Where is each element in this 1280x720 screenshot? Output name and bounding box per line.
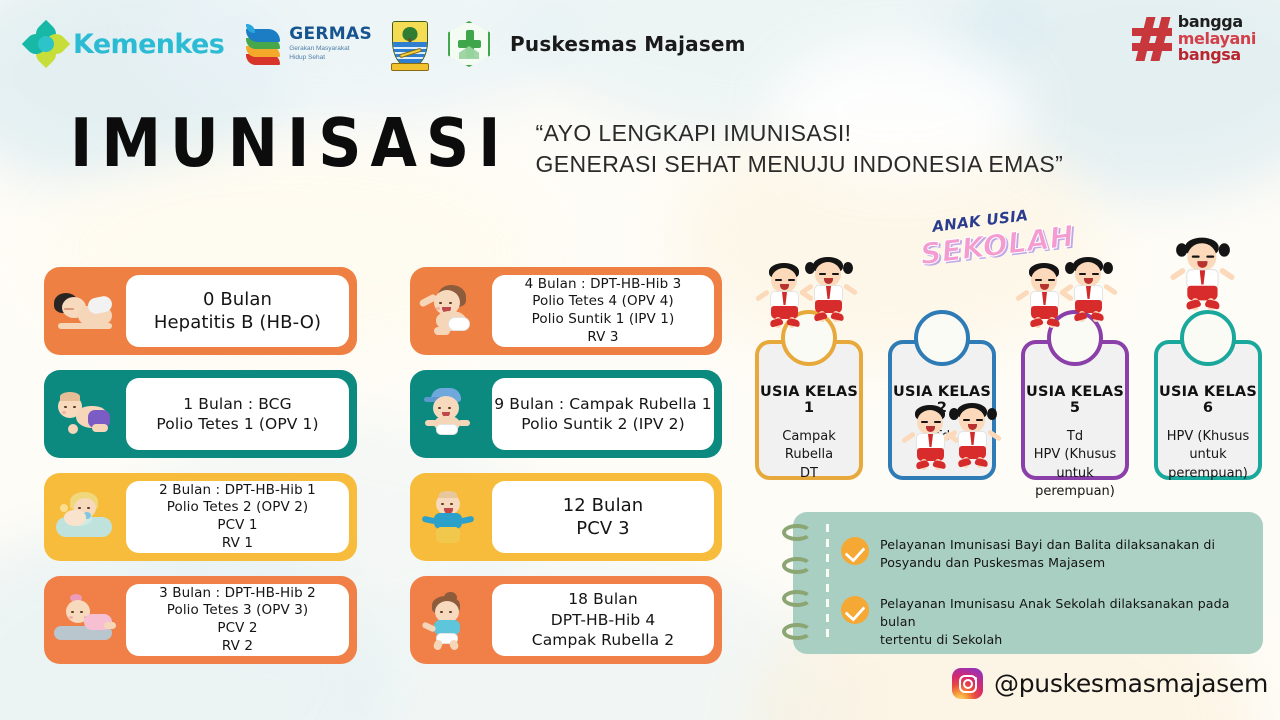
card-illustration <box>44 473 126 561</box>
usia-kelas-6: USIA KELAS 6HPV (Khusus untuk perempuan) <box>1154 340 1262 480</box>
puskesmas-name: Puskesmas Majasem <box>510 32 746 56</box>
baby-with-cap-icon <box>418 386 484 442</box>
waving-baby-icon <box>418 283 484 339</box>
kemenkes-label: Kemenkes <box>73 29 224 60</box>
baby-pink-icon <box>52 592 118 648</box>
note-text: Pelayanan Imunisasu Anak Sekolah dilaksa… <box>880 595 1263 649</box>
school-card-body: Campak Rubella DT <box>777 428 840 493</box>
card-text: 1 Bulan : BCG Polio Tetes 1 (OPV 1) <box>156 394 318 435</box>
card-body: 12 Bulan PCV 3 <box>492 481 714 553</box>
card-0-bulan: 0 Bulan Hepatitis B (HB-O) <box>44 267 357 355</box>
card-body: 0 Bulan Hepatitis B (HB-O) <box>126 275 349 347</box>
school-card-title: USIA KELAS 5 <box>1025 384 1125 416</box>
note-text: Pelayanan Imunisasi Bayi dan Balita dila… <box>880 536 1215 572</box>
card-body: 18 Bulan DPT-HB-Hib 4 Campak Rubella 2 <box>492 584 714 656</box>
kemenkes-logo: Kemenkes <box>26 24 224 64</box>
card-notch <box>781 310 837 366</box>
page-title: IMUNISASI <box>70 110 509 177</box>
card-1-bulan: 1 Bulan : BCG Polio Tetes 1 (OPV 1) <box>44 370 357 458</box>
card-2-bulan: 2 Bulan : DPT-HB-Hib 1 Polio Tetes 2 (OP… <box>44 473 357 561</box>
bandung-city-crest-icon <box>392 21 428 67</box>
note-item: Pelayanan Imunisasi Bayi dan Balita dila… <box>841 536 1215 572</box>
card-text: 2 Bulan : DPT-HB-Hib 1 Polio Tetes 2 (OP… <box>159 482 316 552</box>
baby-on-cloud-icon <box>52 489 118 545</box>
school-card-body: Td <box>929 428 955 456</box>
card-illustration <box>410 267 492 355</box>
card-text: 0 Bulan Hepatitis B (HB-O) <box>154 288 321 335</box>
card-18-bulan: 18 Bulan DPT-HB-Hib 4 Campak Rubella 2 <box>410 576 722 664</box>
instagram-icon <box>952 668 983 699</box>
germas-title: GERMAS <box>289 26 372 43</box>
crawling-baby-icon <box>52 386 118 442</box>
perforation-line <box>826 524 829 642</box>
standing-baby-icon <box>418 489 484 545</box>
header-logo-bar: Kemenkes GERMAS Gerakan Masyarakat Hidup… <box>0 0 1280 88</box>
sleeping-baby-icon <box>52 283 118 339</box>
card-12-bulan: 12 Bulan PCV 3 <box>410 473 722 561</box>
card-illustration <box>44 267 126 355</box>
card-9-bulan: 9 Bulan : Campak Rubella 1 Polio Suntik … <box>410 370 722 458</box>
instagram-footer[interactable]: @puskesmasmajasem <box>952 668 1268 699</box>
germas-figure-icon <box>244 23 284 65</box>
card-body: 9 Bulan : Campak Rubella 1 Polio Suntik … <box>492 378 714 450</box>
schoolgirl-icon <box>806 252 852 318</box>
card-4-bulan: 4 Bulan : DPT-HB-Hib 3 Polio Tetes 4 (OP… <box>410 267 722 355</box>
school-age-heading: ANAK USIA SEKOLAH <box>920 212 1090 274</box>
tagline: “AYO LENGKAPI IMUNISASI! GENERASI SEHAT … <box>535 118 1063 180</box>
card-text: 12 Bulan PCV 3 <box>563 494 644 541</box>
school-card-title: USIA KELAS 2 <box>892 384 992 416</box>
card-notch <box>1047 310 1103 366</box>
school-card-title: USIA KELAS 1 <box>759 384 859 416</box>
usia-kelas-2: USIA KELAS 2Td <box>888 340 996 480</box>
card-body: 3 Bulan : DPT-HB-Hib 2 Polio Tetes 3 (OP… <box>126 584 349 656</box>
toddler-running-icon <box>418 592 484 648</box>
note-item: Pelayanan Imunisasu Anak Sekolah dilaksa… <box>841 595 1263 649</box>
card-illustration <box>410 370 492 458</box>
check-circle-icon <box>841 596 869 624</box>
bangga-melayani-bangsa-logo: bangga melayani bangsa <box>1132 14 1256 64</box>
hashtag-icon <box>1132 17 1172 61</box>
card-text: 9 Bulan : Campak Rubella 1 Polio Suntik … <box>494 394 711 435</box>
card-notch <box>914 310 970 366</box>
puskesmas-cross-logo-icon <box>448 21 490 67</box>
card-text: 4 Bulan : DPT-HB-Hib 3 Polio Tetes 4 (OP… <box>525 276 682 346</box>
card-illustration <box>410 473 492 561</box>
school-card-title: USIA KELAS 6 <box>1158 384 1258 416</box>
school-card-body: Td HPV (Khusus untuk perempuan) <box>1029 428 1122 512</box>
usia-kelas-1: USIA KELAS 1Campak Rubella DT <box>755 340 863 480</box>
bangga-line3: bangsa <box>1178 47 1256 64</box>
check-circle-icon <box>841 537 869 565</box>
kemenkes-flower-icon <box>26 24 66 64</box>
card-illustration <box>44 576 126 664</box>
title-block: IMUNISASI “AYO LENGKAPI IMUNISASI! GENER… <box>70 110 1063 180</box>
card-text: 3 Bulan : DPT-HB-Hib 2 Polio Tetes 3 (OP… <box>159 585 316 655</box>
card-illustration <box>410 576 492 664</box>
notes-panel: Pelayanan Imunisasi Bayi dan Balita dila… <box>793 512 1263 654</box>
card-illustration <box>44 370 126 458</box>
card-notch <box>1180 310 1236 366</box>
card-body: 2 Bulan : DPT-HB-Hib 1 Polio Tetes 2 (OP… <box>126 481 349 553</box>
school-card-body: HPV (Khusus untuk perempuan) <box>1162 428 1255 493</box>
instagram-handle: @puskesmasmajasem <box>994 669 1268 698</box>
germas-logo: GERMAS Gerakan Masyarakat Hidup Sehat <box>244 23 372 65</box>
card-text: 18 Bulan DPT-HB-Hib 4 Campak Rubella 2 <box>532 589 674 650</box>
germas-subtitle: Gerakan Masyarakat Hidup Sehat <box>289 45 372 61</box>
spiral-binding-icon <box>782 524 812 642</box>
schoolgirl-icon <box>1177 232 1229 306</box>
card-body: 1 Bulan : BCG Polio Tetes 1 (OPV 1) <box>126 378 349 450</box>
card-3-bulan: 3 Bulan : DPT-HB-Hib 2 Polio Tetes 3 (OP… <box>44 576 357 664</box>
card-body: 4 Bulan : DPT-HB-Hib 3 Polio Tetes 4 (OP… <box>492 275 714 347</box>
usia-kelas-5: USIA KELAS 5Td HPV (Khusus untuk perempu… <box>1021 340 1129 480</box>
